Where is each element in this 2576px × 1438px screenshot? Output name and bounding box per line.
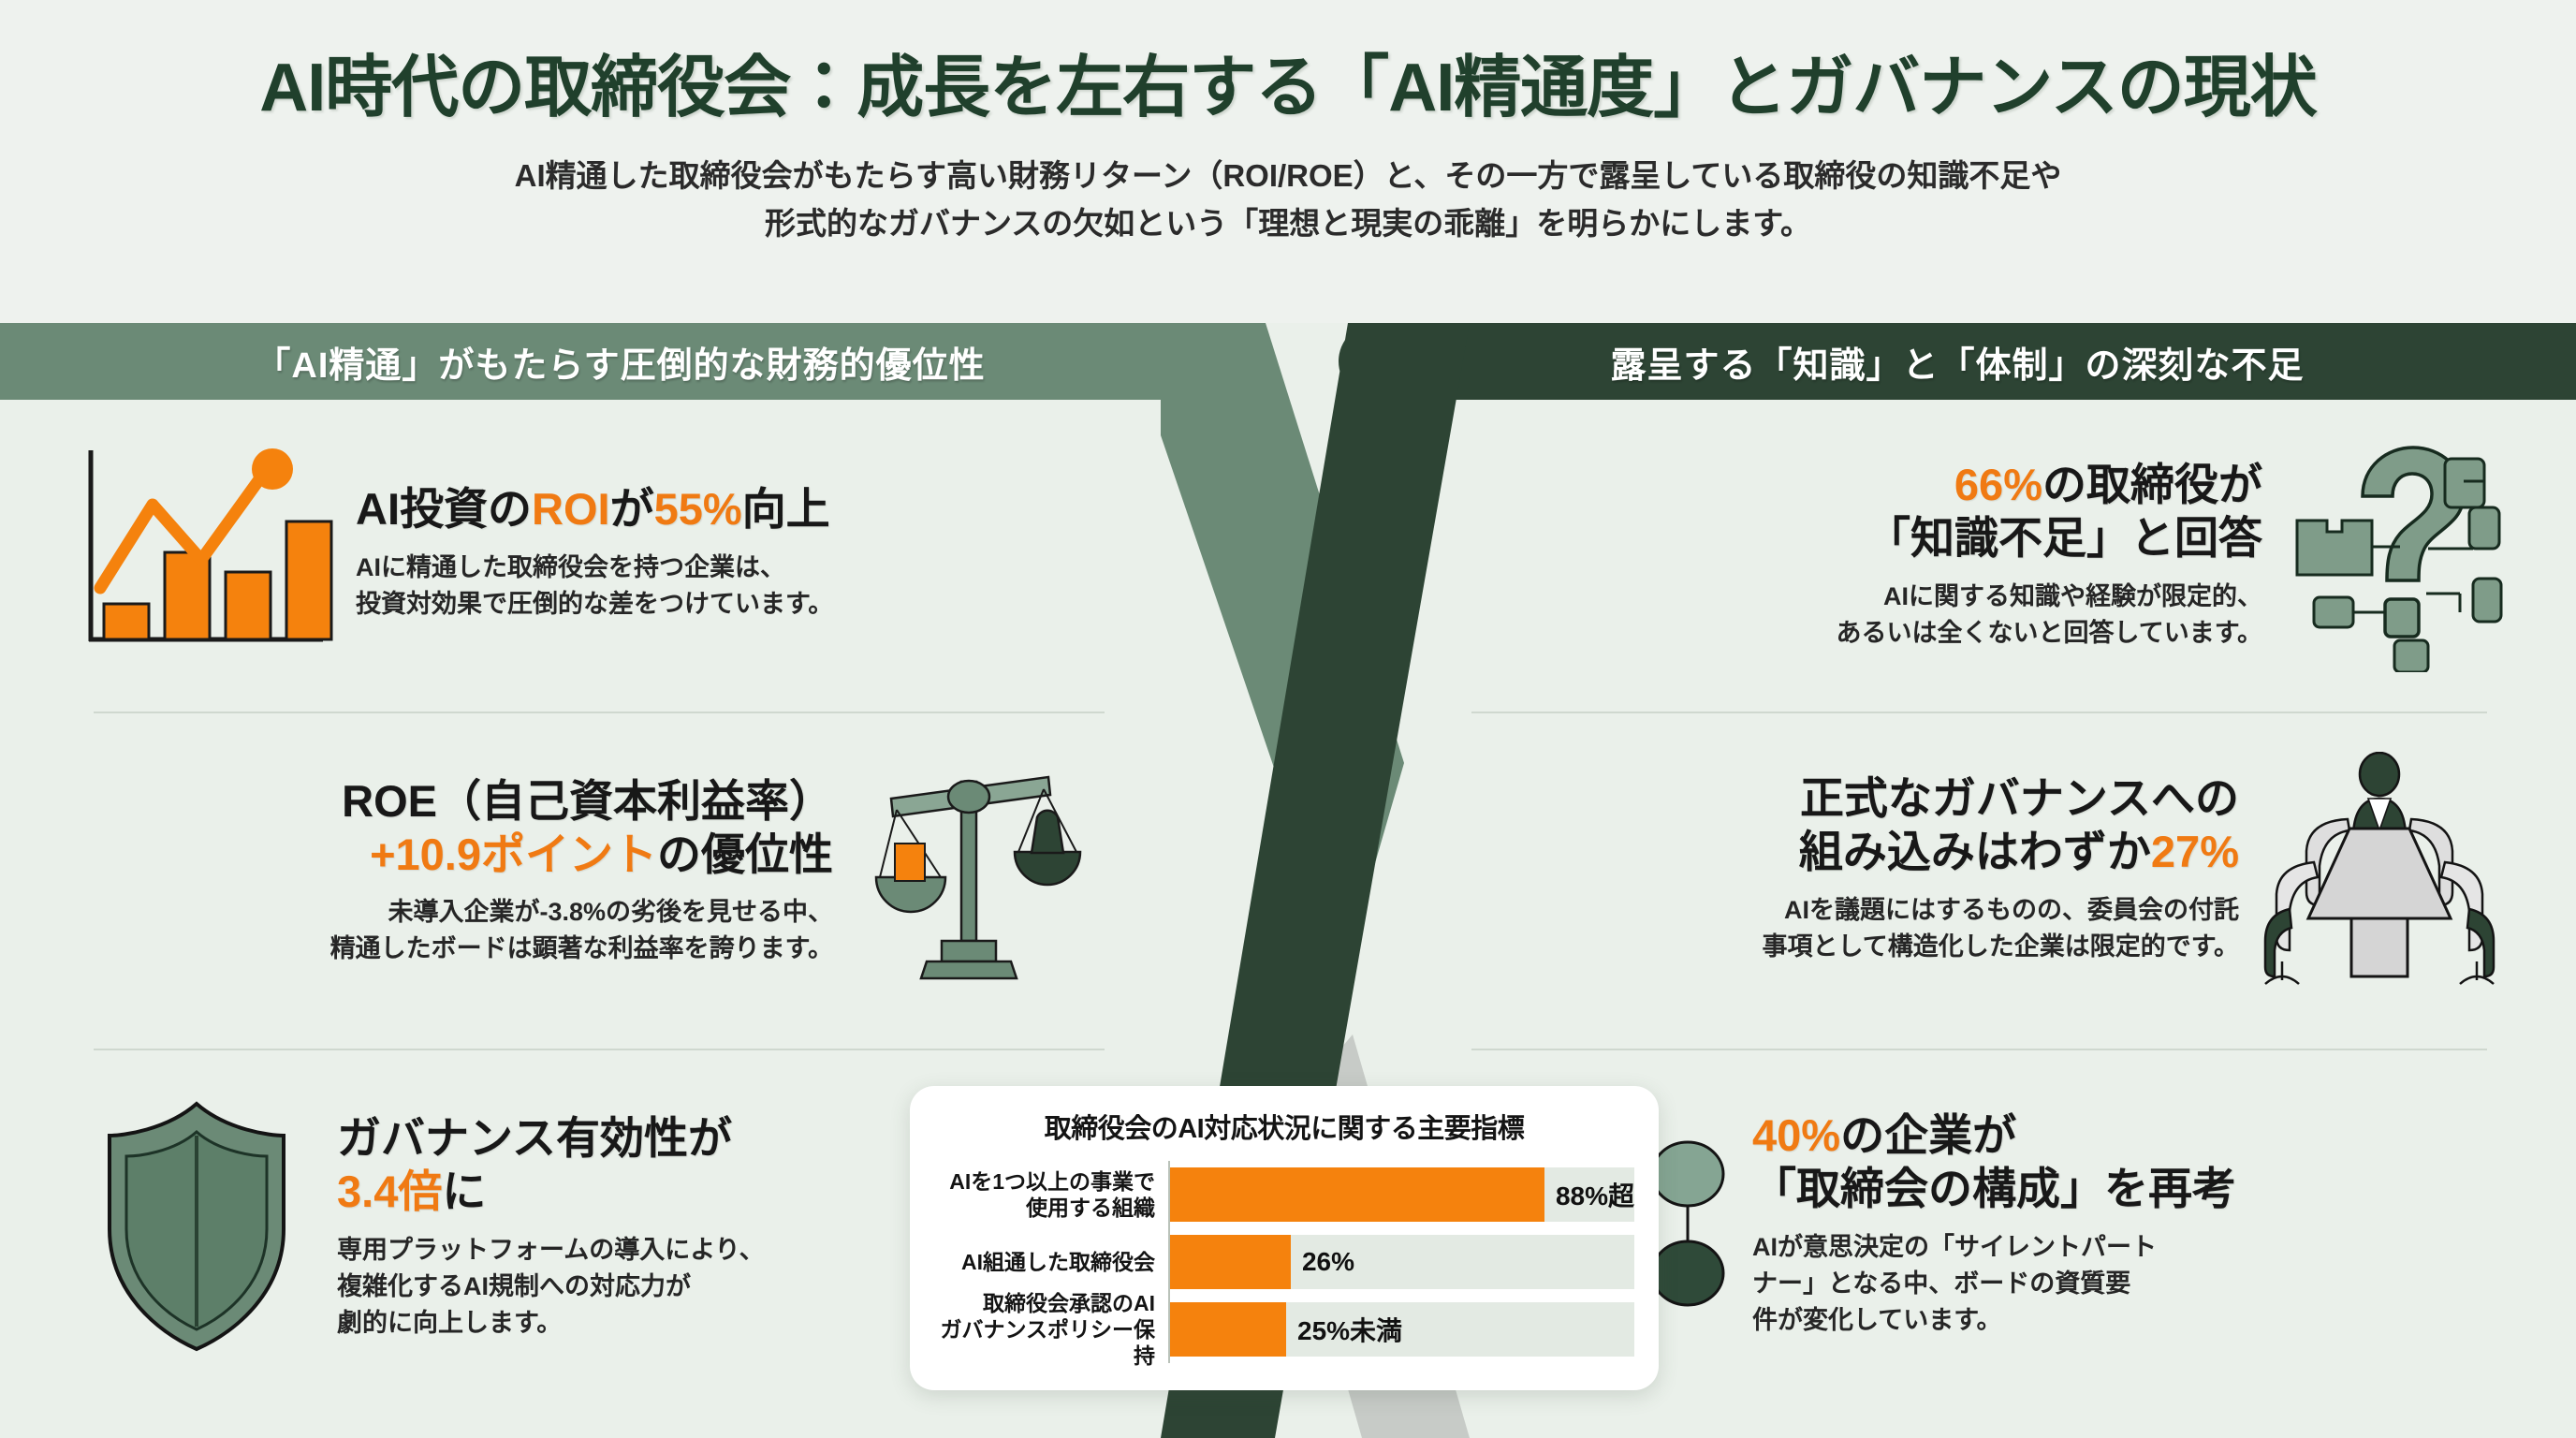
page-title: AI時代の取締役会：成長を左右する「AI精通度」とガバナンスの現状 [259, 51, 2317, 125]
chart-label-2-line-1: 取締役会承認のAI [934, 1290, 1155, 1316]
subtitle-line-1: AI精通した取締役会がもたらす高い財務リターン（ROI/ROE）と、その一方で露… [515, 152, 2062, 199]
formal-body-line-2: 事項として構造化した企業は限定的です。 [1471, 929, 2239, 965]
right-item-formal-governance-body: AIを議題にはするものの、委員会の付託 事項として構造化した企業は限定的です。 [1471, 892, 2239, 965]
balance-scale-icon [833, 754, 1105, 988]
left-item-roe-text: ROE（自己資本利益率） +10.9ポイントの優位性 未導入企業が-3.8%の劣… [56, 774, 833, 968]
right-separator-1 [1471, 712, 2487, 713]
right-panel-header-label: 露呈する「知識」と「体制」の深刻な不足 [1610, 336, 2304, 388]
question-mark-circuit-icon [2262, 438, 2520, 672]
gov-body-line-3: 劇的に向上します。 [337, 1305, 765, 1342]
gov-body-line-1: 専用プラットフォームの導入により、 [337, 1232, 765, 1269]
know-headline-accent: 66% [1954, 460, 2042, 509]
know-headline-line-2: 「知識不足」と回答 [1471, 511, 2262, 565]
chart-value-0: 88%超 [1556, 1176, 1634, 1213]
chart-track-0: 88%超 [1168, 1161, 1634, 1228]
comp-body-line-3: 件が変化しています。 [1752, 1302, 2236, 1339]
chart-track-2: 25%未満 [1168, 1296, 1634, 1363]
left-item-roe-headline: ROE（自己資本利益率） +10.9ポイントの優位性 [56, 774, 833, 882]
chart-title: 取締役会のAI対応状況に関する主要指標 [934, 1107, 1634, 1146]
chart-label-0-line-1: AIを1つ以上の事業で [934, 1168, 1155, 1195]
chart-label-0: AIを1つ以上の事業で 使用する組織 [934, 1168, 1168, 1221]
roe-body-line-1: 未導入企業が-3.8%の劣後を見せる中、 [56, 894, 833, 931]
right-item-formal-governance-text: 正式なガバナンスへの 組み込みはわずか27% AIを議題にはするものの、委員会の… [1471, 771, 2239, 965]
left-separator-2 [94, 1049, 1105, 1050]
left-item-roi: AI投資のROIが55%向上 AIに精通した取締役会を持つ企業は、 投資対効果で… [0, 421, 1161, 683]
comp-body-line-2: ナー」となる中、ボードの資質要 [1752, 1266, 2236, 1302]
roe-headline-accent: +10.9ポイント [370, 829, 657, 879]
shield-icon [56, 1098, 337, 1356]
know-headline-post: の取締役が [2042, 460, 2262, 509]
chart-bar-2 [1170, 1302, 1286, 1357]
roi-headline-mid: が [610, 484, 654, 534]
left-item-governance-text: ガバナンス有効性が 3.4倍に 専用プラットフォームの導入により、 複雑化するA… [337, 1111, 765, 1342]
key-metrics-chart-card: 取締役会のAI対応状況に関する主要指標 AIを1つ以上の事業で 使用する組織 8… [910, 1086, 1659, 1390]
boardroom-table-icon [2239, 752, 2520, 986]
roi-headline-accent2: 55% [654, 484, 742, 534]
chart-label-0-line-2: 使用する組織 [934, 1195, 1155, 1221]
gov-body-line-2: 複雑化するAI規制への対応力が [337, 1269, 765, 1305]
chart-value-1: 26% [1302, 1247, 1354, 1277]
formal-body-line-1: AIを議題にはするものの、委員会の付託 [1471, 892, 2239, 929]
know-body-line-1: AIに関する知識や経験が限定的、 [1471, 579, 2262, 615]
right-item-knowledge-headline: 66%の取締役が 「知識不足」と回答 [1471, 458, 2262, 565]
right-item-knowledge: 66%の取締役が 「知識不足」と回答 AIに関する知識や経験が限定的、 あるいは… [1415, 421, 2576, 688]
left-item-roi-body: AIに精通した取締役会を持つ企業は、 投資対効果で圧倒的な差をつけています。 [356, 550, 833, 623]
know-body-line-2: あるいは全くないと回答しています。 [1471, 615, 2262, 652]
comp-body-line-1: AIが意思決定の「サイレントパート [1752, 1229, 2236, 1266]
comp-headline-line-2: 「取締会の構成」を再考 [1752, 1162, 2236, 1215]
right-item-formal-governance-headline: 正式なガバナンスへの 組み込みはわずか27% [1471, 771, 2239, 879]
chart-row-1: AI組通した取締役会 26% [934, 1228, 1634, 1296]
left-item-governance-body: 専用プラットフォームの導入により、 複雑化するAI規制への対応力が 劇的に向上し… [337, 1232, 765, 1342]
roi-body-line-1: AIに精通した取締役会を持つ企業は、 [356, 550, 833, 586]
comp-headline-post: の企業が [1840, 1110, 2016, 1160]
chart-label-1: AI組通した取締役会 [934, 1249, 1168, 1275]
roi-headline-pre: AI投資の [356, 484, 532, 534]
formal-headline-line-1: 正式なガバナンスへの [1471, 771, 2239, 825]
chart-row-2: 取締役会承認のAI ガバナンスポリシー保持 25%未満 [934, 1296, 1634, 1363]
chart-value-2: 25%未満 [1297, 1311, 1402, 1348]
roi-body-line-2: 投資対効果で圧倒的な差をつけています。 [356, 586, 833, 623]
right-panel-header: 露呈する「知識」と「体制」の深刻な不足 [1339, 323, 2576, 400]
right-item-composition-body: AIが意思決定の「サイレントパート ナー」となる中、ボードの資質要 件が変化して… [1752, 1229, 2236, 1339]
page-subtitle: AI精通した取締役会がもたらす高い財務リターン（ROI/ROE）と、その一方で露… [515, 152, 2062, 247]
roe-headline-post: の優位性 [657, 829, 833, 879]
gov-headline-line-1: ガバナンス有効性が [337, 1111, 765, 1165]
chart-label-2-line-2: ガバナンスポリシー保持 [934, 1316, 1155, 1369]
right-item-knowledge-body: AIに関する知識や経験が限定的、 あるいは全くないと回答しています。 [1471, 579, 2262, 652]
left-separator-1 [94, 712, 1105, 713]
left-item-roi-headline: AI投資のROIが55%向上 [356, 482, 833, 536]
roe-headline-line-1: ROE（自己資本利益率） [56, 774, 833, 828]
right-item-knowledge-text: 66%の取締役が 「知識不足」と回答 AIに関する知識や経験が限定的、 あるいは… [1471, 458, 2262, 652]
comp-headline-accent: 40% [1752, 1110, 1840, 1160]
right-item-formal-governance: 正式なガバナンスへの 組み込みはわずか27% AIを議題にはするものの、委員会の… [1415, 730, 2576, 1006]
subtitle-line-2: 形式的なガバナンスの欠如という「理想と現実の乖離」を明らかにします。 [515, 199, 2062, 247]
left-panel-header: 「AI精通」がもたらす圧倒的な財務的優位性 [0, 323, 1240, 400]
chart-bar-0 [1170, 1167, 1544, 1222]
right-item-composition-text: 40%の企業が 「取締会の構成」を再考 AIが意思決定の「サイレントパート ナー… [1752, 1108, 2236, 1339]
gov-headline-accent: 3.4倍 [337, 1167, 442, 1216]
left-item-roe-body: 未導入企業が-3.8%の劣後を見せる中、 精通したボードは顕著な利益率を誇ります… [56, 894, 833, 967]
gov-headline-post: に [442, 1167, 486, 1216]
formal-headline-line-2-pre: 組み込みはわずか [1799, 827, 2151, 876]
bar-chart-growth-icon [56, 443, 356, 663]
left-item-roi-text: AI投資のROIが55%向上 AIに精通した取締役会を持つ企業は、 投資対効果で… [356, 482, 833, 623]
chart-label-1-line-1: AI組通した取締役会 [934, 1249, 1155, 1275]
formal-headline-accent: 27% [2151, 827, 2239, 876]
left-item-governance-headline: ガバナンス有効性が 3.4倍に [337, 1111, 765, 1219]
chart-bar-1 [1170, 1235, 1291, 1289]
roi-headline-accent: ROI [532, 484, 610, 534]
roe-body-line-2: 精通したボードは顕著な利益率を誇ります。 [56, 931, 833, 967]
left-panel-header-label: 「AI精通」がもたらす圧倒的な財務的優位性 [255, 336, 985, 388]
left-item-roe: ROE（自己資本利益率） +10.9ポイントの優位性 未導入企業が-3.8%の劣… [0, 735, 1161, 1006]
page-header: AI時代の取締役会：成長を左右する「AI精通度」とガバナンスの現状 AI精通した… [0, 0, 2576, 323]
right-item-composition-headline: 40%の企業が 「取締会の構成」を再考 [1752, 1108, 2236, 1216]
roi-headline-post: 向上 [742, 484, 830, 534]
chart-track-1: 26% [1168, 1228, 1634, 1296]
right-separator-2 [1471, 1049, 2487, 1050]
chart-label-2: 取締役会承認のAI ガバナンスポリシー保持 [934, 1290, 1168, 1369]
chart-row-0: AIを1つ以上の事業で 使用する組織 88%超 [934, 1161, 1634, 1228]
